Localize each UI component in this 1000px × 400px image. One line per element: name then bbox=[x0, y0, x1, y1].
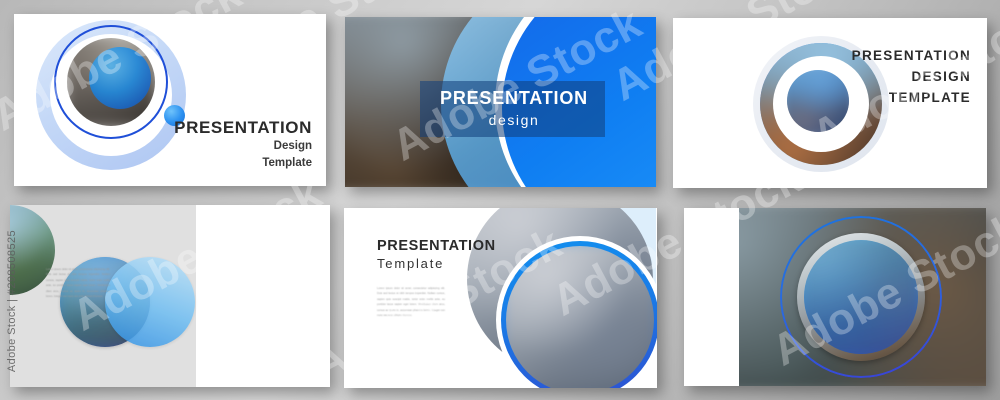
slide-panel-3[interactable]: PRESENTATION DESIGN TEMPLATE bbox=[673, 18, 987, 188]
panel-3-line-1: PRESENTATION bbox=[852, 46, 971, 67]
panel-2-subtitle: design bbox=[429, 112, 599, 128]
white-left-strip bbox=[684, 208, 739, 386]
slide-panel-4[interactable]: Lorem ipsum dolor sit amet, consectetur … bbox=[10, 205, 330, 387]
panel-3-text-block: PRESENTATION DESIGN TEMPLATE bbox=[852, 46, 971, 109]
coast-photo-inner bbox=[804, 240, 918, 354]
slide-panel-6[interactable] bbox=[684, 208, 986, 386]
template-sheet: PRESENTATION Design Template PRESENTATIO… bbox=[0, 0, 1000, 400]
panel-5-heading: PRESENTATION bbox=[377, 238, 496, 254]
city-photo-inner bbox=[506, 246, 654, 388]
ring-photo-circle bbox=[506, 246, 654, 388]
panel-5-body-text: Lorem ipsum dolor sit amet, consectetur … bbox=[377, 286, 445, 319]
white-half bbox=[196, 205, 330, 387]
panel-3-line-2: DESIGN bbox=[852, 67, 971, 88]
slide-panel-5[interactable]: PRESENTATION Template Lorem ipsum dolor … bbox=[344, 208, 657, 388]
panel-5-subtitle: Template bbox=[377, 256, 444, 271]
panel-2-heading: PRESENTATION bbox=[429, 88, 599, 109]
q-blue-tint bbox=[787, 70, 849, 132]
panel-1-text-block: PRESENTATION Design Template bbox=[174, 118, 312, 172]
panel-1-subtitle-2: Template bbox=[174, 155, 312, 172]
panel-1-heading: PRESENTATION bbox=[174, 118, 312, 138]
inner-blue-circle bbox=[804, 240, 918, 354]
panel-4-body-text: Lorem ipsum dolor sit amet, consectetur … bbox=[46, 267, 110, 300]
slide-panel-1[interactable]: PRESENTATION Design Template bbox=[14, 14, 326, 186]
panel-1-subtitle-1: Design bbox=[174, 138, 312, 155]
panel-3-line-3: TEMPLATE bbox=[852, 88, 971, 109]
right-circle bbox=[105, 257, 195, 347]
blue-globe-overlay bbox=[89, 47, 151, 109]
stock-id-watermark: Adobe Stock | #298508525 bbox=[6, 230, 18, 372]
slide-panel-2[interactable]: PRESENTATION design bbox=[345, 17, 656, 187]
q-notch bbox=[673, 18, 717, 62]
